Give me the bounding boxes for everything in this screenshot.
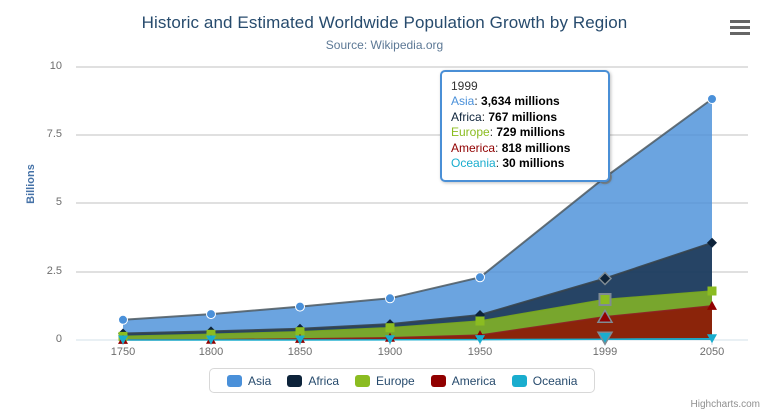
tooltip-series-name: Asia — [451, 94, 474, 108]
legend-item-europe[interactable]: Europe — [355, 374, 415, 388]
y-tick-label: 2.5 — [26, 265, 62, 277]
legend-swatch-icon — [287, 375, 302, 387]
y-tick-label: 7.5 — [26, 128, 62, 140]
y-axis-title: Billions — [25, 144, 37, 224]
tooltip-value: 30 millions — [502, 156, 564, 170]
tooltip-row: Europe: 729 millions — [451, 125, 599, 141]
tooltip-series-name: Africa — [451, 110, 482, 124]
x-tick-label: 1900 — [360, 346, 420, 358]
x-tick-label: 1850 — [270, 346, 330, 358]
y-tick-label: 0 — [26, 333, 62, 345]
tooltip-row: Africa: 767 millions — [451, 110, 599, 126]
legend-item-label: Asia — [248, 374, 271, 388]
x-tick-label: 1999 — [575, 346, 635, 358]
legend-item-label: Oceania — [533, 374, 578, 388]
x-tick-label: 1950 — [450, 346, 510, 358]
tooltip: 1999 Asia: 3,634 millions Africa: 767 mi… — [440, 70, 610, 182]
legend: Asia Africa Europe America Oceania — [209, 368, 595, 393]
highcharts-container: Historic and Estimated Worldwide Populat… — [0, 0, 769, 416]
y-tick-label: 10 — [26, 60, 62, 72]
tooltip-value: 818 millions — [502, 141, 571, 155]
tooltip-separator: : — [474, 94, 481, 108]
legend-item-label: America — [452, 374, 496, 388]
tooltip-row: Oceania: 30 millions — [451, 156, 599, 172]
legend-item-label: Europe — [376, 374, 415, 388]
highcharts-credit-link[interactable]: Highcharts.com — [691, 399, 760, 410]
legend-item-africa[interactable]: Africa — [287, 374, 339, 388]
legend-swatch-icon — [227, 375, 242, 387]
tooltip-series-name: Oceania — [451, 156, 496, 170]
x-tick-label: 1800 — [181, 346, 241, 358]
x-tick-label: 2050 — [682, 346, 742, 358]
tooltip-row: America: 818 millions — [451, 141, 599, 157]
legend-swatch-icon — [431, 375, 446, 387]
legend-item-america[interactable]: America — [431, 374, 496, 388]
tooltip-series-name: Europe — [451, 125, 490, 139]
tooltip-value: 729 millions — [496, 125, 565, 139]
legend-item-oceania[interactable]: Oceania — [512, 374, 578, 388]
tooltip-series-name: America — [451, 141, 495, 155]
tooltip-value: 767 millions — [488, 110, 557, 124]
x-tick-label: 1750 — [93, 346, 153, 358]
tooltip-row: Asia: 3,634 millions — [451, 94, 599, 110]
legend-item-label: Africa — [308, 374, 339, 388]
tooltip-header: 1999 — [451, 79, 599, 94]
legend-swatch-icon — [512, 375, 527, 387]
tooltip-value: 3,634 millions — [481, 94, 560, 108]
legend-item-asia[interactable]: Asia — [227, 374, 271, 388]
legend-swatch-icon — [355, 375, 370, 387]
tooltip-separator: : — [495, 141, 502, 155]
